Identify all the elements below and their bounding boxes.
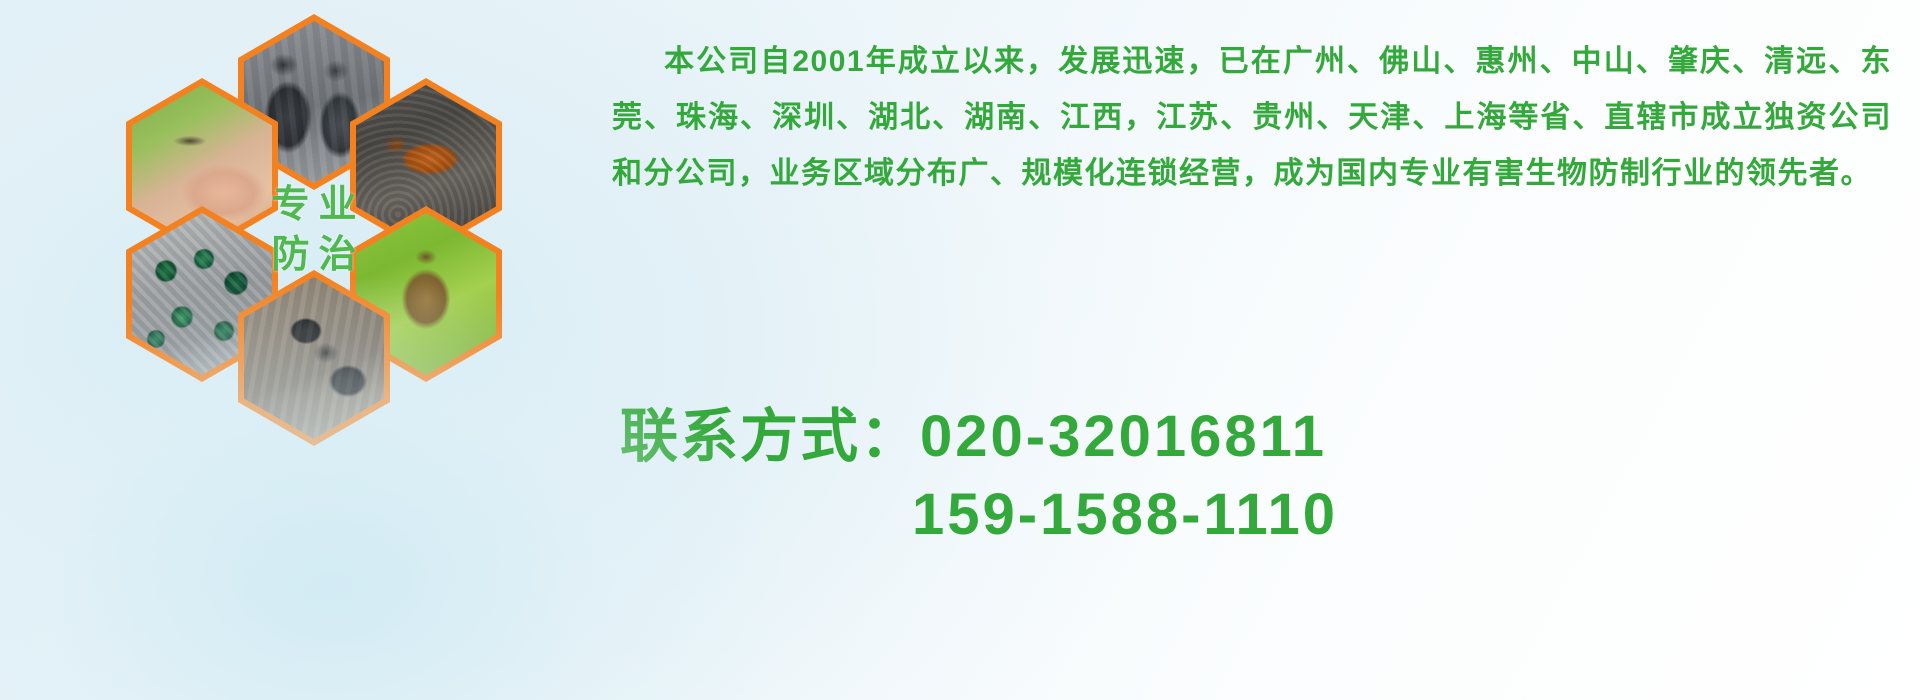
promo-banner: 专业 防治 本公司自2001年成立以来，发展迅速，已在广州、佛山、惠州、中山、肇… [0,0,1920,700]
phone-primary[interactable]: 020-32016811 [920,404,1327,469]
contact-block: 联系方式：020-32016811 159-1588-1110 [620,398,1820,554]
honeycomb-collage: 专业 防治 [88,8,588,588]
contact-label: 联系方式： [620,404,920,469]
contact-secondary-line: 159-1588-1110 [620,476,1820,554]
intro-paragraph: 本公司自2001年成立以来，发展迅速，已在广州、佛山、惠州、中山、肇庆、清远、东… [612,34,1892,202]
ant-photo [244,277,384,439]
contact-primary-line: 联系方式：020-32016811 [620,398,1820,476]
phone-secondary[interactable]: 159-1588-1110 [912,482,1338,547]
company-intro: 本公司自2001年成立以来，发展迅速，已在广州、佛山、惠州、中山、肇庆、清远、东… [612,34,1892,202]
intro-paragraph-text: 本公司自2001年成立以来，发展迅速，已在广州、佛山、惠州、中山、肇庆、清远、东… [612,45,1892,190]
